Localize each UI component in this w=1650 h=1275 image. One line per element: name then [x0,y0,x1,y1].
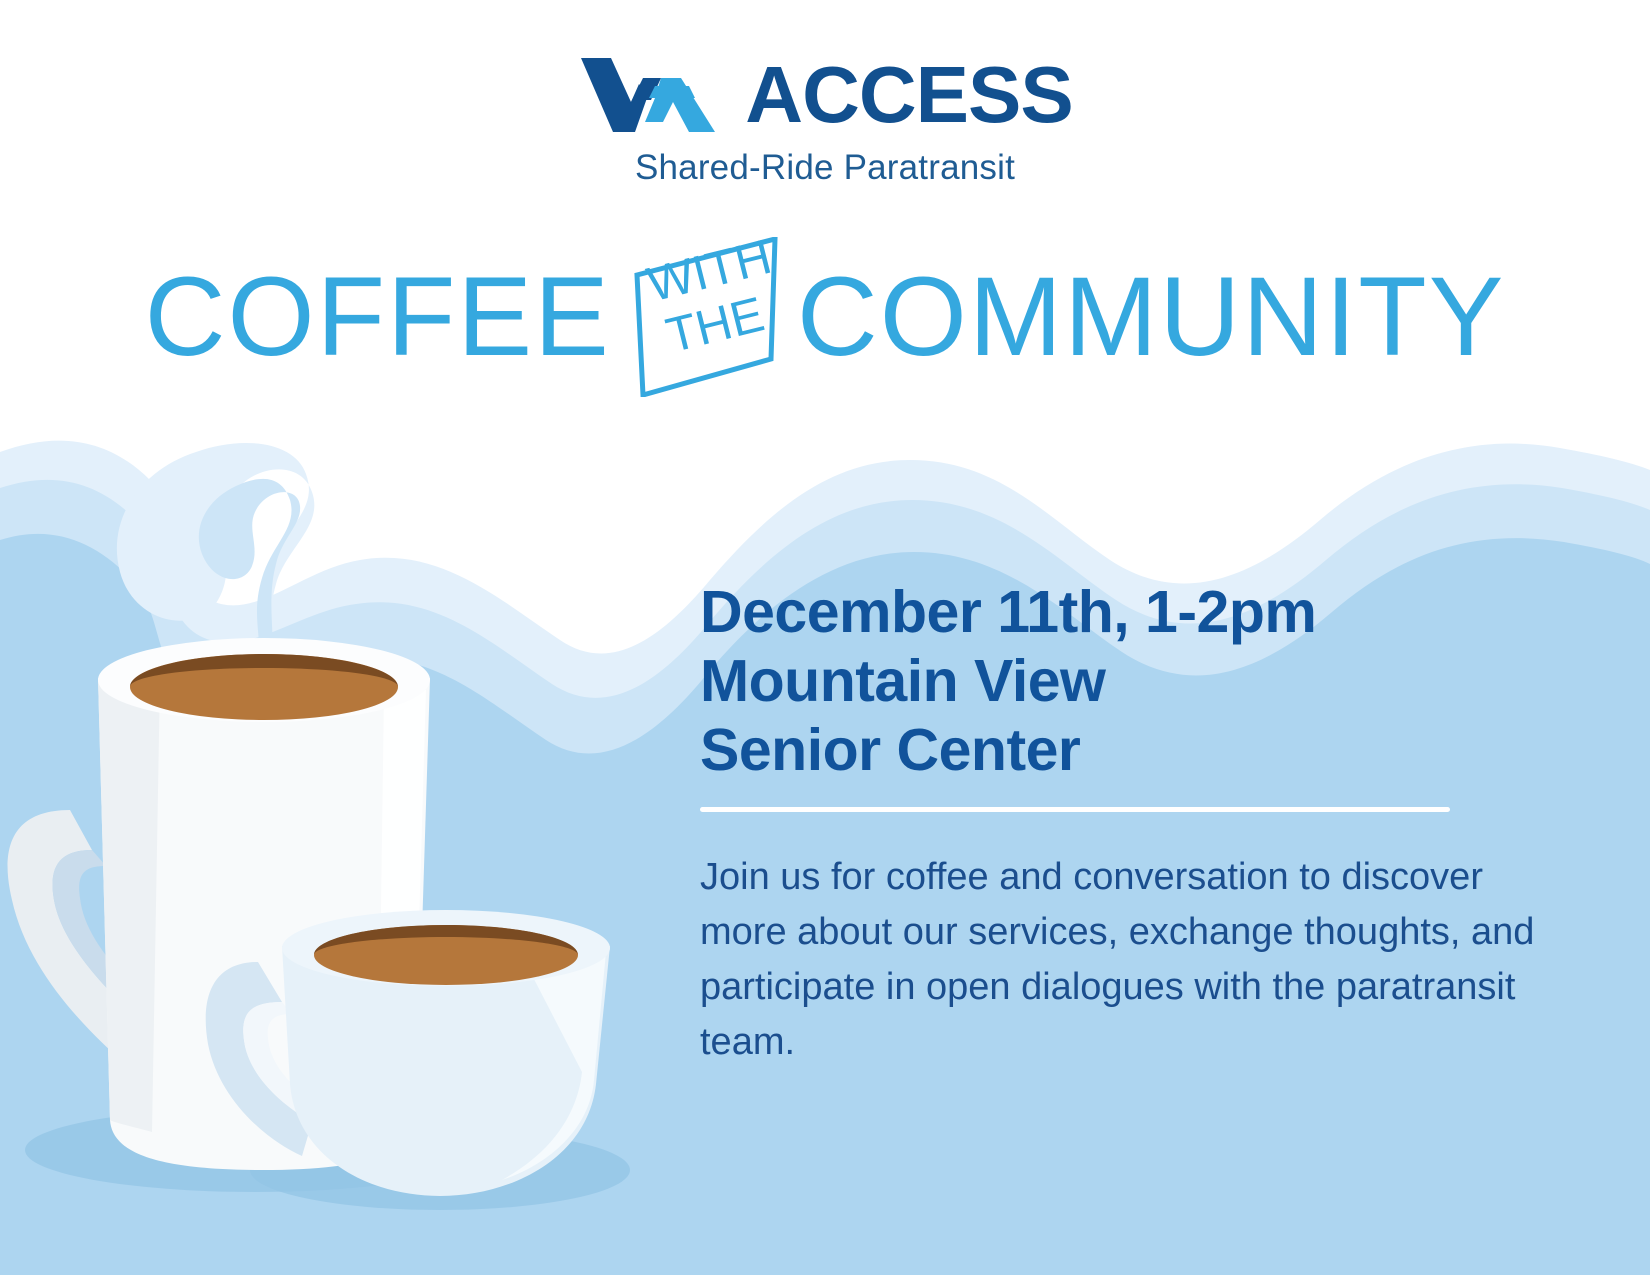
large-mug-shade-left [98,678,160,1132]
section-divider [700,807,1450,812]
headline-word-coffee: COFFEE [145,261,611,373]
event-details-column: December 11th, 1-2pm Mountain View Senio… [700,578,1490,1070]
brand-logo-block: ACCESS Shared-Ride Paratransit [0,52,1650,188]
vta-access-logo-mark [577,52,735,138]
event-date-time: December 11th, 1-2pm [700,578,1490,647]
headline-row: COFFEE WITH THE COMMUNITY [0,252,1650,382]
logo-a-bar [649,86,695,98]
logo-wordmark: ACCESS [745,52,1072,138]
with-the-badge: WITH THE [629,237,779,397]
flyer-canvas: ACCESS Shared-Ride Paratransit COFFEE WI… [0,0,1650,1275]
event-venue-line-1: Mountain View [700,647,1490,716]
headline-word-community: COMMUNITY [797,261,1506,373]
coffee-illustration [0,380,700,1275]
event-venue-line-2: Senior Center [700,716,1490,785]
event-description-text: Join us for coffee and conversation to d… [700,850,1540,1070]
logo-tagline: Shared-Ride Paratransit [0,148,1650,188]
event-description: Join us for coffee and conversation to d… [700,850,1540,1070]
